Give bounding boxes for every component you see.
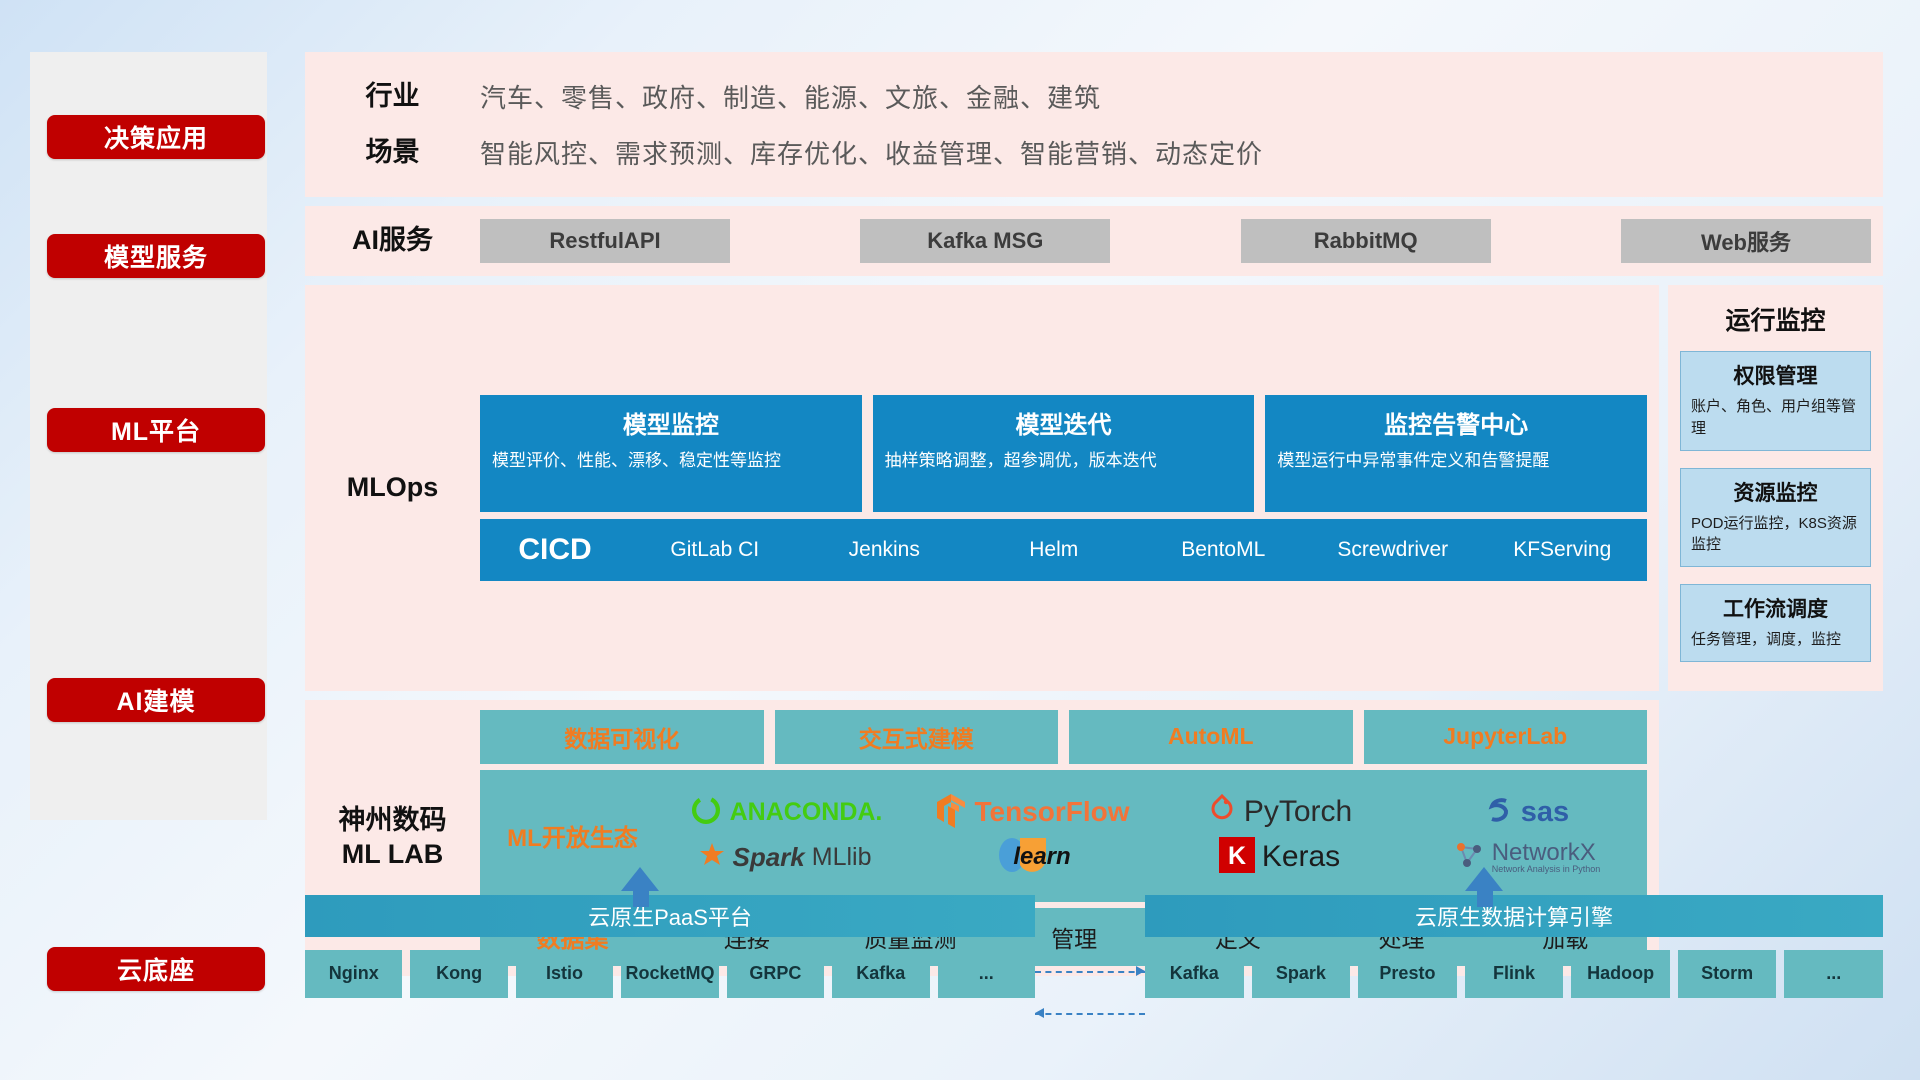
card-title: 监控告警中心: [1277, 405, 1635, 440]
paas-chip[interactable]: Nginx: [305, 950, 402, 998]
pytorch-label: PyTorch: [1244, 795, 1352, 829]
spark-label: Spark: [732, 842, 804, 873]
engine-chip[interactable]: Storm: [1678, 950, 1777, 998]
stage-label: 决策应用: [104, 119, 208, 155]
ai-service-band: AI服务 RestfulAPI Kafka MSG RabbitMQ Web服务: [305, 206, 1883, 276]
pytorch-icon: [1207, 793, 1237, 832]
industry-label: 行业: [305, 80, 480, 114]
ai-service-chip-list: RestfulAPI Kafka MSG RabbitMQ Web服务: [480, 219, 1883, 263]
card-desc: 模型评价、性能、漂移、稳定性等监控: [492, 449, 850, 473]
sas-logo: sas: [1484, 794, 1569, 831]
paas-platform-group: 云原生PaaS平台 Nginx Kong Istio RocketMQ GRPC…: [305, 895, 1035, 1050]
anaconda-icon: [689, 793, 723, 832]
mlops-label: MLOps: [305, 471, 480, 505]
mlops-card-model-iteration[interactable]: 模型迭代 抽样策略调整，超参调优，版本迭代: [873, 395, 1255, 512]
card-title: 资源监控: [1691, 477, 1860, 507]
cicd-item[interactable]: GitLab CI: [630, 539, 800, 561]
industry-row: 行业 汽车、零售、政府、制造、能源、文旅、金融、建筑: [305, 69, 1883, 125]
up-arrow-left-icon: [621, 867, 659, 891]
ml-ecosystem-label: ML开放生态: [480, 818, 665, 853]
ml-lab-label: 神州数码 ML LAB: [305, 804, 480, 872]
tensorflow-logo: TensorFlow: [935, 792, 1129, 833]
card-desc: POD运行监控，K8S资源监控: [1691, 513, 1860, 557]
card-desc: 模型运行中异常事件定义和告警提醒: [1277, 449, 1635, 473]
ai-service-label: AI服务: [305, 224, 480, 258]
mlops-card-list: 模型监控 模型评价、性能、漂移、稳定性等监控 模型迭代 抽样策略调整，超参调优，…: [480, 395, 1647, 512]
mlops-card-alert-center[interactable]: 监控告警中心 模型运行中异常事件定义和告警提醒: [1265, 395, 1647, 512]
ai-service-chip[interactable]: RabbitMQ: [1241, 219, 1491, 263]
svg-text:K: K: [1228, 842, 1246, 870]
engine-chip[interactable]: Spark: [1252, 950, 1351, 998]
scenario-label: 场景: [305, 136, 480, 170]
cicd-bar: CICD GitLab CI Jenkins Helm BentoML Scre…: [480, 519, 1647, 581]
ml-lab-tool-list: 数据可视化 交互式建模 AutoML JupyterLab: [480, 710, 1647, 764]
cicd-item[interactable]: KFServing: [1478, 539, 1648, 561]
scenario-values: 智能风控、需求预测、库存优化、收益管理、智能营销、动态定价: [480, 134, 1263, 171]
stage-label: 云底座: [117, 951, 195, 987]
cicd-item[interactable]: Screwdriver: [1308, 539, 1478, 561]
engine-chip[interactable]: Flink: [1465, 950, 1564, 998]
lab-tool-interactive-modeling[interactable]: 交互式建模: [775, 710, 1059, 764]
spark-mllib-logo: Spark MLlib: [699, 842, 871, 873]
monitor-card-resource[interactable]: 资源监控 POD运行监控，K8S资源监控: [1680, 468, 1871, 568]
sas-icon: [1484, 794, 1514, 831]
engine-chip-list: Kafka Spark Presto Flink Hadoop Storm ..…: [1145, 950, 1883, 998]
dashed-arrow-left-head: [1035, 1008, 1044, 1018]
networkx-sublabel: Network Analysis in Python: [1492, 865, 1601, 874]
scikit-learn-logo: learn: [994, 835, 1070, 880]
mlops-card-model-monitor[interactable]: 模型监控 模型评价、性能、漂移、稳定性等监控: [480, 395, 862, 512]
industry-scenario-band: 行业 汽车、零售、政府、制造、能源、文旅、金融、建筑 场景 智能风控、需求预测、…: [305, 52, 1883, 197]
engine-chip[interactable]: Kafka: [1145, 950, 1244, 998]
stage-label: AI建模: [116, 682, 195, 718]
ml-lab-label-line1: 神州数码: [305, 804, 480, 838]
industry-values: 汽车、零售、政府、制造、能源、文旅、金融、建筑: [480, 78, 1101, 115]
ai-service-chip[interactable]: RestfulAPI: [480, 219, 730, 263]
stage-label: ML平台: [111, 412, 201, 448]
lab-tool-data-viz[interactable]: 数据可视化: [480, 710, 764, 764]
paas-chip-list: Nginx Kong Istio RocketMQ GRPC Kafka ...: [305, 950, 1035, 998]
pytorch-logo: PyTorch: [1207, 793, 1352, 832]
sidebar-item-cloud-base[interactable]: 云底座: [47, 947, 265, 991]
paas-platform-title: 云原生PaaS平台: [305, 895, 1035, 937]
mlops-band: MLOps 模型监控 模型评价、性能、漂移、稳定性等监控 模型迭代 抽样策略调整…: [305, 285, 1659, 691]
diagram-canvas: 决策应用 模型服务 ML平台 AI建模 云底座 行业 汽车、零售、政府、制造、能…: [0, 0, 1920, 1080]
sas-label: sas: [1521, 796, 1569, 829]
card-title: 权限管理: [1691, 360, 1860, 390]
cicd-item[interactable]: Jenkins: [800, 539, 970, 561]
paas-chip[interactable]: ...: [938, 950, 1035, 998]
networkx-label: NetworkX: [1492, 841, 1601, 865]
engine-chip[interactable]: ...: [1784, 950, 1883, 998]
keras-label: Keras: [1262, 840, 1340, 874]
mllib-label: MLlib: [812, 843, 872, 872]
cicd-title: CICD: [480, 533, 630, 567]
sidebar-item-model-service[interactable]: 模型服务: [47, 234, 265, 278]
card-title: 工作流调度: [1691, 593, 1860, 623]
monitor-card-workflow[interactable]: 工作流调度 任务管理，调度，监控: [1680, 584, 1871, 662]
anaconda-logo: ANACONDA.: [689, 793, 883, 832]
dashed-arrow-right: [1035, 971, 1145, 973]
runtime-monitor-title: 运行监控: [1725, 301, 1825, 337]
sidebar-item-decision-app[interactable]: 决策应用: [47, 115, 265, 159]
cicd-item[interactable]: Helm: [969, 539, 1139, 561]
cloud-link-arrows: [1035, 895, 1145, 1050]
paas-chip[interactable]: GRPC: [727, 950, 824, 998]
runtime-monitor-panel: 运行监控 权限管理 账户、角色、用户组等管理 资源监控 POD运行监控，K8S资…: [1668, 285, 1883, 691]
card-desc: 抽样策略调整，超参调优，版本迭代: [885, 449, 1243, 473]
cloud-base-layer: 云原生PaaS平台 Nginx Kong Istio RocketMQ GRPC…: [305, 895, 1883, 1050]
tensorflow-icon: [935, 792, 967, 833]
keras-icon: K: [1219, 837, 1255, 878]
engine-chip[interactable]: Hadoop: [1571, 950, 1670, 998]
lab-tool-automl[interactable]: AutoML: [1069, 710, 1353, 764]
mlops-and-monitor-row: MLOps 模型监控 模型评价、性能、漂移、稳定性等监控 模型迭代 抽样策略调整…: [305, 285, 1883, 691]
card-desc: 任务管理，调度，监控: [1691, 629, 1860, 651]
ml-lab-label-line2: ML LAB: [305, 838, 480, 872]
data-compute-engine-group: 云原生数据计算引擎 Kafka Spark Presto Flink Hadoo…: [1145, 895, 1883, 1050]
tensorflow-label: TensorFlow: [974, 796, 1129, 828]
card-desc: 账户、角色、用户组等管理: [1691, 396, 1860, 440]
engine-chip[interactable]: Presto: [1358, 950, 1457, 998]
ai-service-chip[interactable]: Kafka MSG: [860, 219, 1110, 263]
cicd-item-list: GitLab CI Jenkins Helm BentoML Screwdriv…: [630, 539, 1647, 561]
paas-chip[interactable]: Kafka: [832, 950, 929, 998]
spark-icon: [699, 842, 725, 873]
dashed-arrow-left: [1035, 1013, 1145, 1015]
paas-chip[interactable]: Kong: [410, 950, 507, 998]
monitor-card-permission[interactable]: 权限管理 账户、角色、用户组等管理: [1680, 351, 1871, 451]
cicd-item[interactable]: BentoML: [1139, 539, 1309, 561]
sidebar-item-ml-platform[interactable]: ML平台: [47, 408, 265, 452]
data-compute-engine-title: 云原生数据计算引擎: [1145, 895, 1883, 937]
lab-tool-jupyterlab[interactable]: JupyterLab: [1364, 710, 1648, 764]
stage-label: 模型服务: [104, 238, 208, 274]
scikit-learn-label: learn: [1013, 843, 1070, 871]
keras-logo: K Keras: [1219, 837, 1340, 878]
sidebar-item-ai-modeling[interactable]: AI建模: [47, 678, 265, 722]
card-title: 模型监控: [492, 405, 850, 440]
mlops-content: 模型监控 模型评价、性能、漂移、稳定性等监控 模型迭代 抽样策略调整，超参调优，…: [480, 395, 1659, 581]
main-column: 行业 汽车、零售、政府、制造、能源、文旅、金融、建筑 场景 智能风控、需求预测、…: [305, 52, 1883, 976]
ai-service-chip[interactable]: Web服务: [1621, 219, 1871, 263]
anaconda-label: ANACONDA.: [730, 798, 883, 827]
card-title: 模型迭代: [885, 405, 1243, 440]
scenario-row: 场景 智能风控、需求预测、库存优化、收益管理、智能营销、动态定价: [305, 125, 1883, 181]
up-arrow-right-icon: [1465, 867, 1503, 891]
up-arrow-right-stem: [1477, 889, 1493, 907]
paas-chip[interactable]: Istio: [516, 950, 613, 998]
paas-chip[interactable]: RocketMQ: [621, 950, 718, 998]
dashed-arrow-right-head: [1136, 966, 1145, 976]
up-arrow-left-stem: [633, 889, 649, 907]
